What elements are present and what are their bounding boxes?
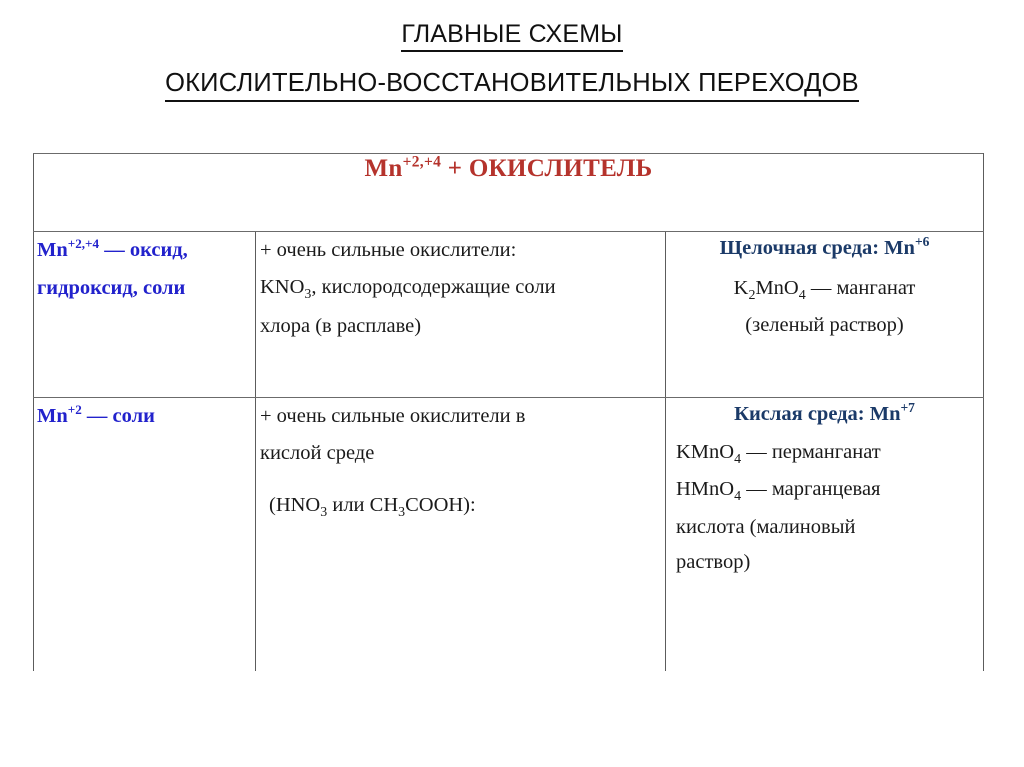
- row1-right-heading-charge: +6: [915, 234, 929, 249]
- table-row: Mn+2,+4 — оксид, гидроксид, соли + очень…: [34, 232, 984, 398]
- row2-right-body: KMnO4 — перманганат HMnO4 — марганцевая …: [666, 435, 983, 582]
- table-header-row: Mn+2,+4 + ОКИСЛИТЕЛЬ: [34, 154, 984, 232]
- page-title: ГЛАВНЫЕ СХЕМЫ ОКИСЛИТЕЛЬНО-ВОССТАНОВИТЕЛ…: [0, 22, 1024, 102]
- row1-right-heading-text: Щелочная среда: Mn: [720, 237, 915, 259]
- title-line-1-text: ГЛАВНЫЕ СХЕМЫ: [401, 22, 622, 52]
- row1-middle-line1: + очень сильные окислители:: [260, 239, 516, 261]
- row1-middle-line2-b: , кислородсодержащие соли: [311, 276, 555, 298]
- header-reagent: ОКИСЛИТЕЛЬ: [469, 155, 653, 182]
- row1-right-line1-a: K: [734, 277, 749, 299]
- row2-right-line1: KMnO4 — перманганат: [676, 435, 983, 472]
- row2-right-line3: кислота (малиновый: [676, 510, 983, 546]
- row1-middle-cell: + очень сильные окислители: KNO3, кислор…: [256, 232, 666, 398]
- row1-middle-line3: хлора (в расплаве): [260, 315, 421, 337]
- header-species-charge: +2,+4: [403, 154, 442, 171]
- row1-left-cell: Mn+2,+4 — оксид, гидроксид, соли: [34, 232, 256, 398]
- row2-right-line2-b: — марганцевая: [741, 478, 880, 500]
- row1-middle-line2-a: KNO: [260, 276, 304, 298]
- row1-right-line1-c: — манганат: [806, 277, 916, 299]
- row2-right-line4: раствор): [676, 545, 983, 581]
- table-row: Mn+2 — соли + очень сильные окислители в…: [34, 398, 984, 671]
- row1-left-text: Mn+2,+4 — оксид, гидроксид, соли: [34, 232, 255, 308]
- row1-right-body: K2MnO4 — манганат (зеленый раствор): [666, 271, 983, 344]
- row2-right-heading-text: Кислая среда: Mn: [734, 403, 900, 425]
- row2-right-line2: HMnO4 — марганцевая: [676, 472, 983, 509]
- row2-middle-text: + очень сильные окислители в кислой сред…: [256, 398, 665, 525]
- row1-middle-text: + очень сильные окислители: KNO3, кислор…: [256, 232, 665, 345]
- title-line-2-text: ОКИСЛИТЕЛЬНО-ВОССТАНОВИТЕЛЬНЫХ ПЕРЕХОДОВ: [165, 71, 859, 102]
- redox-scheme-table: Mn+2,+4 + ОКИСЛИТЕЛЬ Mn+2,+4 — оксид, ги…: [33, 153, 984, 671]
- row2-left-text: Mn+2 — соли: [34, 398, 255, 436]
- row2-left-charge: +2: [68, 402, 82, 417]
- row2-middle-line3-c: COOH):: [405, 494, 476, 516]
- title-line-1: ГЛАВНЫЕ СХЕМЫ: [0, 22, 1024, 52]
- row1-right-heading: Щелочная среда: Mn+6: [666, 232, 983, 264]
- row2-right-line1-b: — перманганат: [741, 441, 881, 463]
- row1-right-line1-sub2: 4: [799, 288, 806, 303]
- row1-left-tail: — оксид,: [99, 239, 188, 261]
- row2-middle-line3: (HNO3 или CH3COOH):: [260, 487, 665, 525]
- row2-left-species: Mn: [37, 405, 68, 427]
- header-species: Mn: [365, 155, 403, 182]
- header-plus: +: [441, 155, 469, 182]
- row2-middle-line1: + очень сильные окислители в: [260, 405, 525, 427]
- row2-right-heading-charge: +7: [900, 400, 914, 415]
- row1-right-line1: K2MnO4 — манганат: [666, 271, 983, 308]
- row1-right-cell: Щелочная среда: Mn+6 K2MnO4 — манганат (…: [666, 232, 984, 398]
- row2-right-cell: Кислая среда: Mn+7 KMnO4 — перманганат H…: [666, 398, 984, 671]
- row2-left-cell: Mn+2 — соли: [34, 398, 256, 671]
- row2-right-line2-a: HMnO: [676, 478, 734, 500]
- row2-right-heading: Кислая среда: Mn+7: [666, 398, 983, 430]
- title-line-2: ОКИСЛИТЕЛЬНО-ВОССТАНОВИТЕЛЬНЫХ ПЕРЕХОДОВ: [0, 71, 1024, 102]
- row1-left-charge: +2,+4: [68, 236, 99, 251]
- table-header-cell: Mn+2,+4 + ОКИСЛИТЕЛЬ: [34, 154, 984, 232]
- row1-right-line2: (зеленый раствор): [666, 308, 983, 344]
- row2-middle-line3-a: (HNO: [269, 494, 320, 516]
- header-formula: Mn+2,+4 + ОКИСЛИТЕЛЬ: [365, 155, 653, 182]
- row2-left-tail: — соли: [82, 405, 155, 427]
- row1-left-species: Mn: [37, 239, 68, 261]
- row2-middle-line3-b: или CH: [327, 494, 398, 516]
- row1-right-line1-b: MnO: [755, 277, 798, 299]
- row2-right-line1-a: KMnO: [676, 441, 734, 463]
- row1-left-line2: гидроксид, соли: [37, 277, 185, 299]
- row2-middle-cell: + очень сильные окислители в кислой сред…: [256, 398, 666, 671]
- row2-middle-line2: кислой среде: [260, 442, 374, 464]
